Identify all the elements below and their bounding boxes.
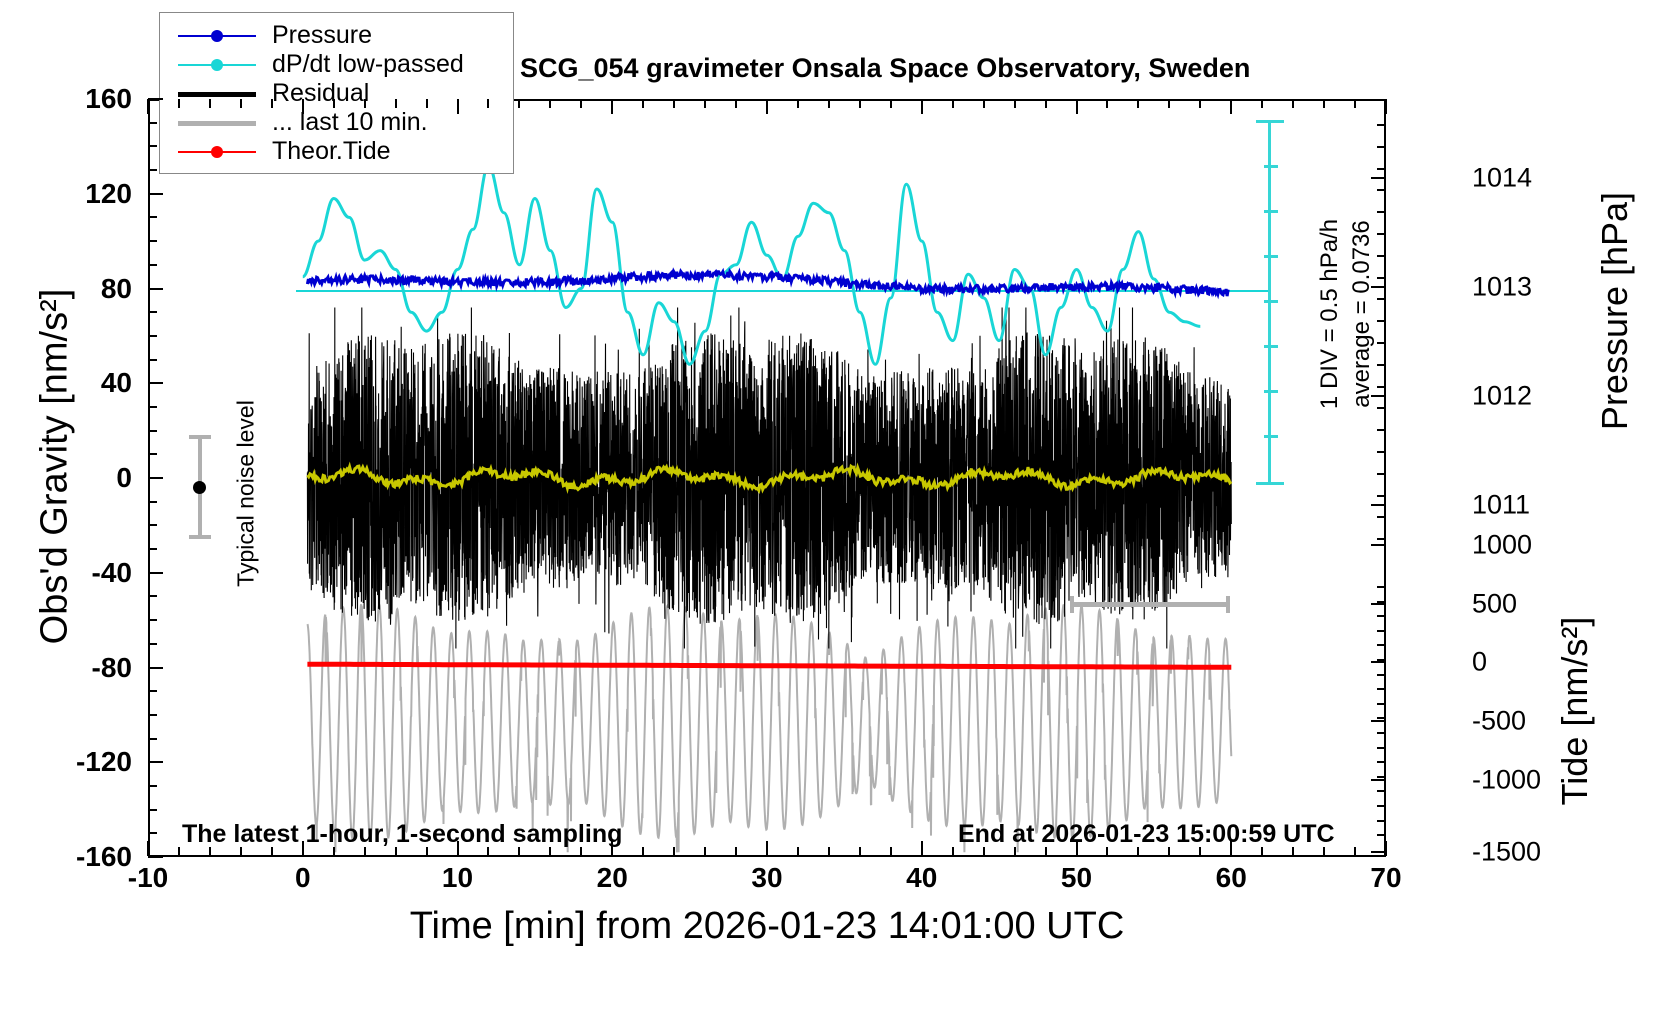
tick-mark	[148, 619, 157, 621]
y-axis-tide-tick-label: 0	[1472, 647, 1592, 678]
tick-mark	[921, 99, 923, 114]
legend-label-residual: Residual	[272, 79, 369, 108]
tick-mark	[1377, 473, 1386, 475]
tick-mark	[1377, 233, 1386, 235]
x-axis-tick-label: 30	[717, 862, 817, 894]
tick-mark	[797, 847, 799, 856]
last10-cap-left	[1070, 596, 1074, 613]
dpdt-scale-tick	[1264, 390, 1278, 393]
data-traces	[148, 99, 1386, 857]
y-axis-left-tick-label: 0	[12, 462, 132, 494]
y-axis-tide-tick-label: -1000	[1472, 765, 1592, 796]
tick-mark	[148, 738, 157, 740]
tick-mark	[1377, 211, 1386, 213]
tick-mark	[673, 847, 675, 856]
tick-mark	[1377, 834, 1386, 836]
tick-mark	[1377, 516, 1386, 518]
tick-mark	[148, 548, 157, 550]
tick-mark	[302, 99, 304, 114]
tick-mark	[148, 524, 157, 526]
tick-mark	[797, 99, 799, 108]
tick-mark	[1377, 451, 1386, 453]
tick-mark	[1371, 177, 1386, 179]
legend-item-tide: Theor.Tide	[178, 137, 513, 166]
tick-mark	[1371, 720, 1386, 722]
legend-label-pressure: Pressure	[272, 21, 372, 50]
y-axis-pressure-label: Pressure [hPa]	[1594, 111, 1636, 511]
tick-mark	[148, 643, 157, 645]
tick-mark	[1371, 603, 1386, 605]
tick-mark	[148, 667, 163, 669]
x-axis-tick-label: 70	[1336, 862, 1436, 894]
tick-mark	[1371, 504, 1386, 506]
tick-mark	[148, 335, 157, 337]
noise-level-label: Typical noise level	[233, 389, 260, 599]
x-axis-tick-label: 20	[562, 862, 662, 894]
tick-mark	[148, 359, 157, 361]
tick-mark	[1377, 790, 1386, 792]
tick-mark	[240, 99, 242, 108]
tick-mark	[487, 99, 489, 108]
tick-mark	[148, 98, 163, 100]
dpdt-scale-tick	[1264, 210, 1278, 213]
dpdt-scale-cap-top	[1256, 120, 1284, 123]
tick-mark	[148, 761, 163, 763]
legend-item-last10: ... last 10 min.	[178, 108, 513, 137]
tick-mark	[1377, 820, 1386, 822]
tick-mark	[1377, 538, 1386, 540]
y-axis-tide-tick-label: 1000	[1472, 530, 1592, 561]
tick-mark	[1377, 386, 1386, 388]
dpdt-scale-tick	[1264, 165, 1278, 168]
tick-mark	[1377, 776, 1386, 778]
tick-mark	[952, 99, 954, 108]
tick-mark	[518, 99, 520, 108]
tick-mark	[148, 145, 157, 147]
tick-mark	[1377, 703, 1386, 705]
last10-cap-right	[1226, 596, 1230, 613]
tick-mark	[148, 406, 157, 408]
tick-mark	[1377, 298, 1386, 300]
tick-mark	[1377, 342, 1386, 344]
tick-mark	[1377, 124, 1386, 126]
tick-mark	[1377, 747, 1386, 749]
tick-mark	[1377, 407, 1386, 409]
tick-mark	[580, 99, 582, 108]
tick-mark	[148, 288, 163, 290]
y-axis-pressure-tick-label: 1013	[1472, 272, 1592, 303]
tick-mark	[642, 847, 644, 856]
tick-mark	[1377, 659, 1386, 661]
footer-end-time: End at 2026-01-23 15:00:59 UTC	[958, 820, 1335, 849]
tick-mark	[735, 99, 737, 108]
tick-mark	[395, 99, 397, 108]
tick-mark	[1371, 661, 1386, 663]
tick-mark	[148, 382, 163, 384]
tick-mark	[148, 216, 157, 218]
tick-mark	[148, 240, 157, 242]
tick-mark	[1371, 779, 1386, 781]
tick-mark	[1377, 761, 1386, 763]
y-axis-tide-tick-label: -500	[1472, 706, 1592, 737]
legend-swatch-dpdt	[178, 55, 256, 75]
tick-mark	[766, 99, 768, 114]
tick-mark	[859, 847, 861, 856]
tick-mark	[426, 99, 428, 108]
tick-mark	[148, 856, 163, 858]
tick-mark	[148, 477, 163, 479]
tick-mark	[890, 847, 892, 856]
tick-mark	[1323, 99, 1325, 108]
y-axis-pressure-tick-label: 1012	[1472, 381, 1592, 412]
dpdt-scale-cap-bottom	[1256, 482, 1284, 485]
tick-mark	[148, 430, 157, 432]
y-axis-left-tick-label: 160	[12, 83, 132, 115]
tick-mark	[178, 847, 180, 856]
tick-mark	[1076, 99, 1078, 114]
tick-mark	[1377, 320, 1386, 322]
legend-swatch-pressure	[178, 26, 256, 46]
tick-mark	[1377, 688, 1386, 690]
tick-mark	[148, 832, 157, 834]
tick-mark	[1045, 99, 1047, 108]
tick-mark	[148, 501, 157, 503]
tick-mark	[148, 193, 163, 195]
tick-mark	[1377, 630, 1386, 632]
dpdt-scale-tick	[1264, 435, 1278, 438]
x-axis-label: Time [min] from 2026-01-23 14:01:00 UTC	[148, 905, 1386, 948]
tick-mark	[1385, 841, 1387, 856]
dpdt-scale-tick	[1264, 345, 1278, 348]
tick-mark	[1371, 544, 1386, 546]
tick-mark	[1377, 495, 1386, 497]
tick-mark	[148, 572, 163, 574]
legend-item-dpdt: dP/dt low-passed	[178, 50, 513, 79]
tick-mark	[1168, 99, 1170, 108]
dpdt-scale-label: 1 DIV = 0.5 hPa/h	[1316, 184, 1344, 444]
tick-mark	[1377, 429, 1386, 431]
tick-mark	[148, 264, 157, 266]
tick-mark	[983, 99, 985, 108]
tick-mark	[148, 690, 157, 692]
tick-mark	[209, 99, 211, 108]
legend-swatch-last10	[178, 113, 256, 133]
tick-mark	[148, 595, 157, 597]
tick-mark	[673, 99, 675, 108]
y-axis-pressure-tick-label: 1014	[1472, 163, 1592, 194]
tick-mark	[148, 714, 157, 716]
x-axis-tick-label: 10	[408, 862, 508, 894]
tick-mark	[1377, 146, 1386, 148]
tick-mark	[1106, 99, 1108, 108]
tick-mark	[364, 99, 366, 108]
tick-mark	[921, 841, 923, 856]
footer-sampling-note: The latest 1-hour, 1-second sampling	[182, 820, 622, 849]
tick-mark	[1377, 717, 1386, 719]
tick-mark	[1014, 99, 1016, 108]
tick-mark	[952, 847, 954, 856]
tick-mark	[1199, 99, 1201, 108]
tick-mark	[1292, 99, 1294, 108]
legend-item-residual: Residual	[178, 79, 513, 108]
tick-mark	[1377, 732, 1386, 734]
tick-mark	[178, 99, 180, 108]
tick-mark	[735, 847, 737, 856]
tick-mark	[1137, 99, 1139, 108]
last10-bar	[1070, 602, 1230, 607]
y-axis-left-tick-label: 40	[12, 367, 132, 399]
y-axis-tide-tick-label: 500	[1472, 589, 1592, 620]
tick-mark	[642, 99, 644, 108]
tick-mark	[1230, 99, 1232, 114]
tick-mark	[1371, 851, 1386, 853]
dpdt-scale-tick	[1264, 300, 1278, 303]
tick-mark	[1377, 189, 1386, 191]
y-axis-left-tick-label: 80	[12, 273, 132, 305]
y-axis-tide-tick-label: -1500	[1472, 837, 1592, 868]
tick-mark	[1377, 615, 1386, 617]
y-axis-left-tick-label: -40	[12, 557, 132, 589]
tick-mark	[1377, 644, 1386, 646]
x-axis-tick-label: 50	[1027, 862, 1127, 894]
tick-mark	[148, 122, 157, 124]
tick-mark	[333, 99, 335, 108]
tick-mark	[1377, 674, 1386, 676]
tick-mark	[859, 99, 861, 108]
tick-mark	[1261, 99, 1263, 108]
noise-center-dot	[193, 481, 206, 494]
tick-mark	[457, 99, 459, 114]
legend-label-dpdt: dP/dt low-passed	[272, 50, 464, 79]
tick-mark	[828, 847, 830, 856]
x-axis-tick-label: 0	[253, 862, 353, 894]
legend-swatch-residual	[178, 84, 256, 104]
legend-item-pressure: Pressure	[178, 21, 513, 50]
tick-mark	[1385, 99, 1387, 114]
legend-swatch-tide	[178, 142, 256, 162]
tick-mark	[611, 99, 613, 114]
tick-mark	[148, 169, 157, 171]
x-axis-tick-label: -10	[98, 862, 198, 894]
tick-mark	[1377, 805, 1386, 807]
legend: Pressure dP/dt low-passed Residual ... l…	[159, 12, 514, 174]
tick-mark	[271, 99, 273, 108]
tick-mark	[1354, 847, 1356, 856]
tick-mark	[148, 809, 157, 811]
tick-mark	[828, 99, 830, 108]
y-axis-left-tick-label: -80	[12, 652, 132, 684]
dpdt-scale-tick	[1264, 255, 1278, 258]
legend-label-last10: ... last 10 min.	[272, 108, 428, 137]
tick-mark	[1354, 99, 1356, 108]
tick-mark	[1377, 168, 1386, 170]
tick-mark	[1377, 601, 1386, 603]
tick-mark	[704, 847, 706, 856]
noise-cap-top	[189, 435, 211, 439]
x-axis-tick-label: 60	[1181, 862, 1281, 894]
typical-noise-level-marker: Typical noise level	[183, 385, 313, 595]
tick-mark	[148, 453, 157, 455]
tick-mark	[148, 311, 157, 313]
dpdt-average-label: average = 0.0736	[1348, 184, 1376, 444]
y-axis-pressure-tick-label: 1011	[1472, 490, 1592, 521]
tick-mark	[1377, 364, 1386, 366]
x-axis-tick-label: 40	[872, 862, 972, 894]
tick-mark	[1377, 277, 1386, 279]
tick-mark	[147, 841, 149, 856]
tick-mark	[766, 841, 768, 856]
tick-mark	[1377, 586, 1386, 588]
noise-cap-bottom	[189, 535, 211, 539]
tick-mark	[148, 785, 157, 787]
y-axis-left-tick-label: -120	[12, 746, 132, 778]
tick-mark	[704, 99, 706, 108]
tick-mark	[147, 99, 149, 114]
tick-mark	[549, 99, 551, 108]
tick-mark	[890, 99, 892, 108]
y-axis-left-tick-label: 120	[12, 178, 132, 210]
legend-label-tide: Theor.Tide	[272, 137, 391, 166]
page-title: SCG_054 gravimeter Onsala Space Observat…	[520, 53, 1250, 84]
tick-mark	[1377, 255, 1386, 257]
gravimeter-chart: SCG_054 gravimeter Onsala Space Observat…	[0, 0, 1660, 1020]
